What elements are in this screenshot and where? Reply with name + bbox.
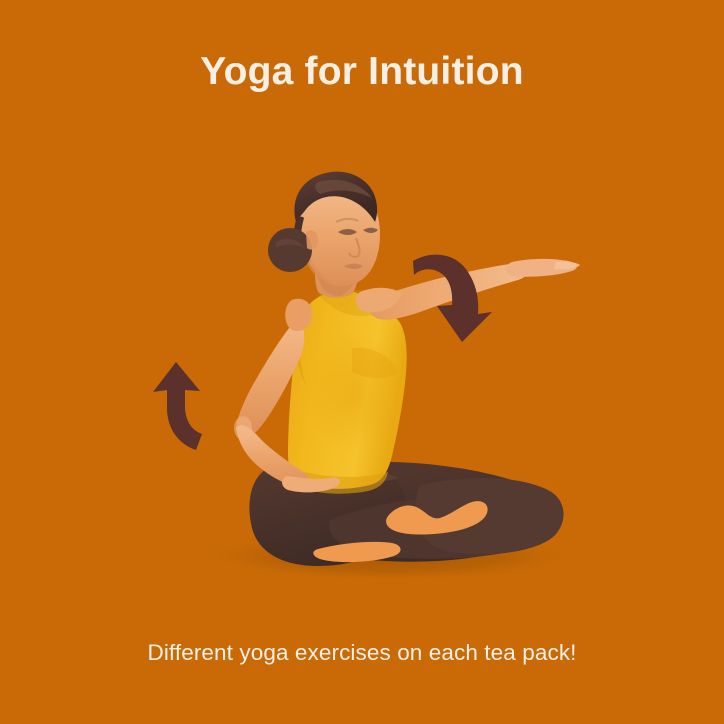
seated-yoga-woman-illustration [0, 0, 724, 724]
page-title: Yoga for Intuition [0, 52, 724, 93]
hair-bun [268, 228, 312, 272]
yoga-poster: Yoga for Intuition Different yoga exerci… [0, 0, 724, 724]
elbow-highlight [234, 416, 252, 440]
head-group [268, 172, 380, 298]
caption-text: Different yoga exercises on each tea pac… [0, 640, 724, 666]
far-leg [415, 478, 563, 554]
arrow-up-left [153, 362, 202, 450]
